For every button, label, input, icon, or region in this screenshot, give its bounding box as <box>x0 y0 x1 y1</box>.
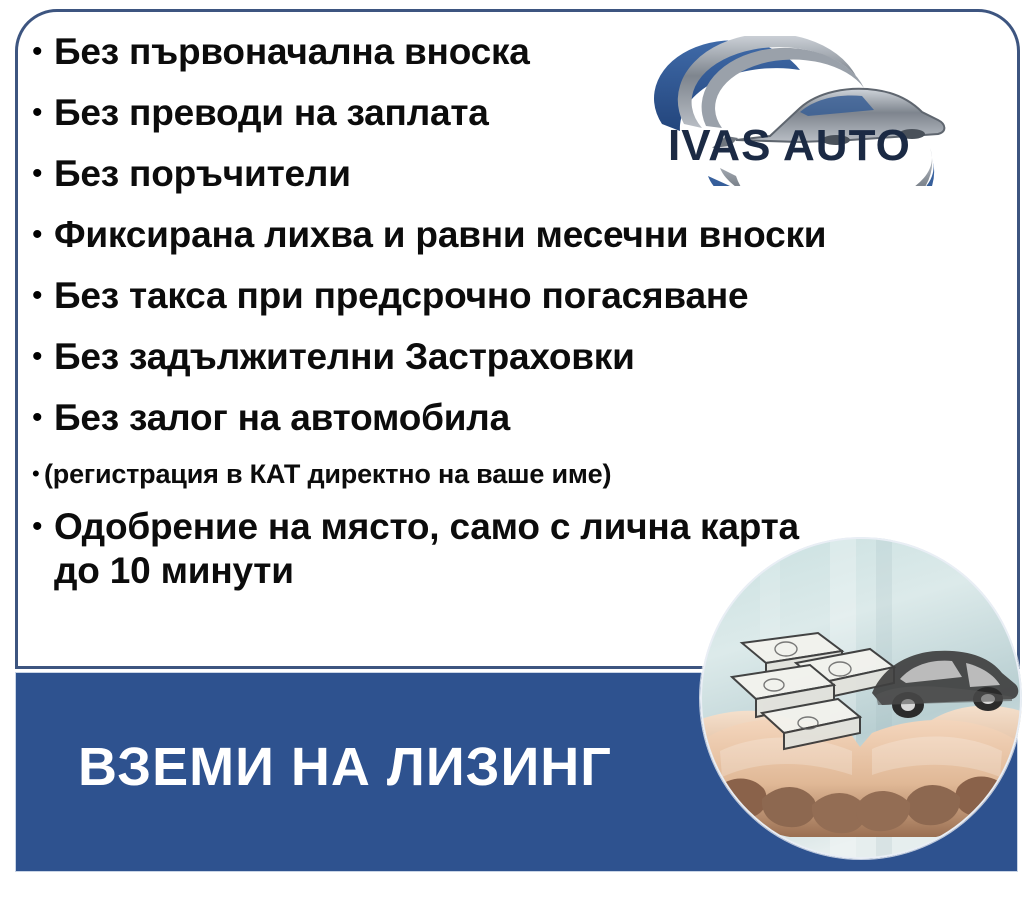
bullet-icon: • <box>32 30 54 74</box>
flyer-page: • Без първоначална вноска • Без преводи … <box>0 0 1033 902</box>
logo-wordmark: IVAS AUTO <box>668 121 911 170</box>
bullet-icon: • <box>32 152 54 196</box>
bullet-icon: • <box>32 505 54 549</box>
photo-graphic <box>700 537 1022 859</box>
list-item: • Без залог на автомобила <box>22 396 982 440</box>
ivas-auto-logo: IVAS AUTO <box>650 36 970 186</box>
list-item: • Без такса при предсрочно погасяване <box>22 274 982 318</box>
feature-text: Без залог на автомобила <box>54 396 510 440</box>
hands-money-car-photo <box>700 537 1022 859</box>
list-item: • Без задължителни Застраховки <box>22 335 982 379</box>
bullet-icon: • <box>32 91 54 135</box>
logo-graphic: IVAS AUTO <box>650 36 970 186</box>
feature-text: Без преводи на заплата <box>54 91 489 135</box>
feature-text: Без първоначална вноска <box>54 30 530 74</box>
list-item-note: • (регистрация в КАТ директно на ваше им… <box>22 457 982 491</box>
bullet-icon: • <box>32 213 54 257</box>
feature-text: Без задължителни Застраховки <box>54 335 635 379</box>
cta-banner-text: ВЗЕМИ НА ЛИЗИНГ <box>78 736 612 798</box>
feature-note-text: (регистрация в КАТ директно на ваше име) <box>44 457 611 491</box>
bullet-icon: • <box>32 335 54 379</box>
feature-text: Одобрение на място, само с лична карта д… <box>54 505 799 593</box>
feature-text: Фиксирана лихва и равни месечни вноски <box>54 213 826 257</box>
bullet-icon: • <box>32 274 54 318</box>
bullet-icon: • <box>32 396 54 440</box>
feature-text: Без поръчители <box>54 152 351 196</box>
bullet-icon: • <box>32 457 44 491</box>
list-item: • Фиксирана лихва и равни месечни вноски <box>22 213 982 257</box>
feature-text: Без такса при предсрочно погасяване <box>54 274 748 318</box>
